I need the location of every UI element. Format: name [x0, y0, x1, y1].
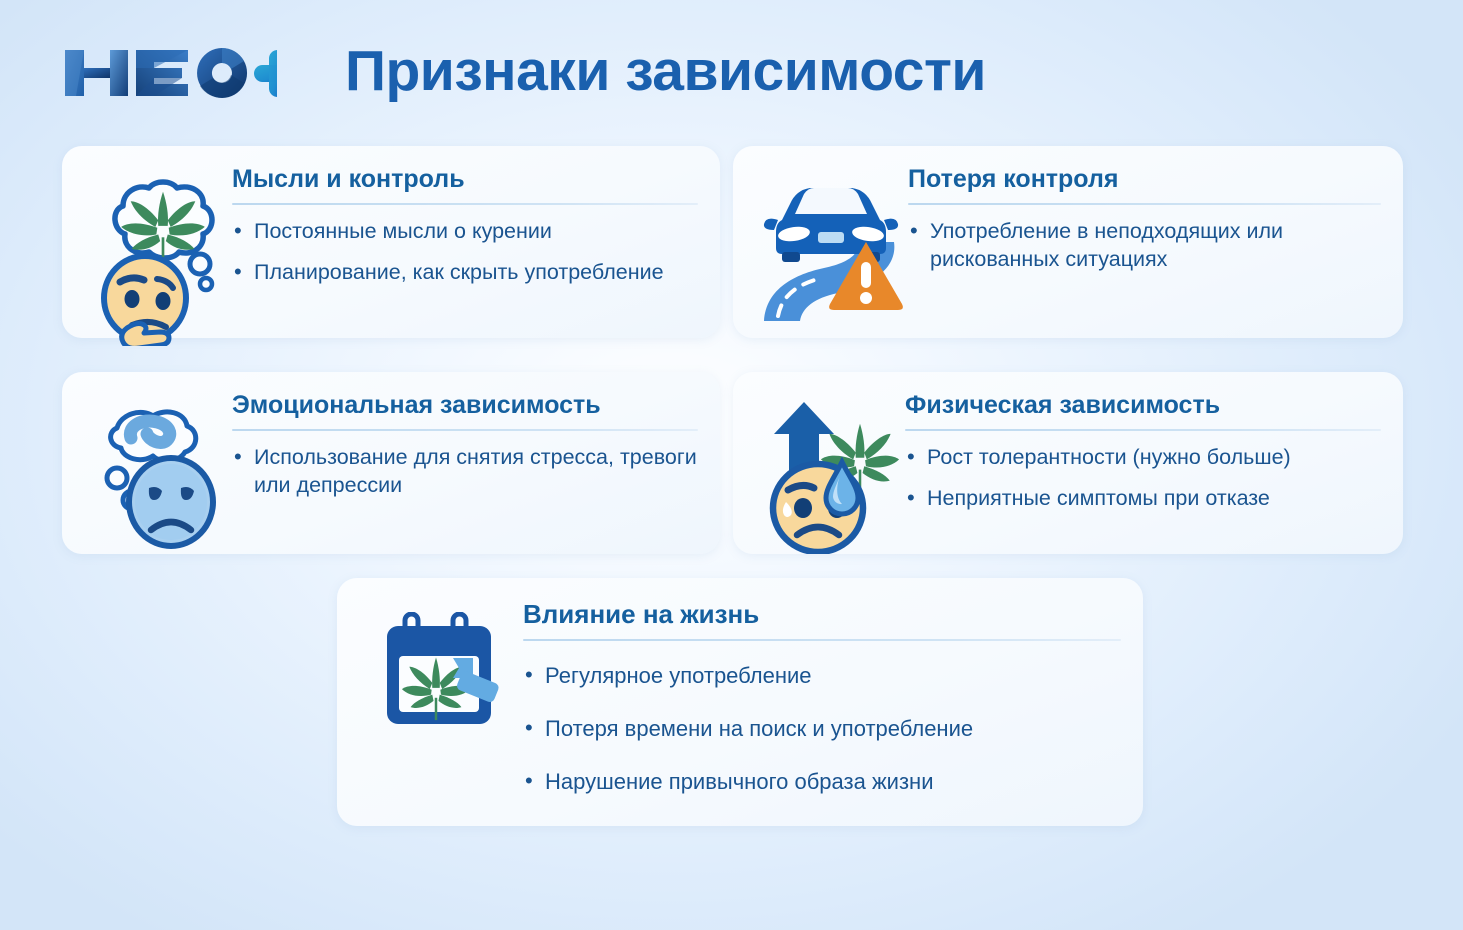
title-divider	[523, 639, 1121, 641]
card-thoughts-and-control: Мысли и контроль Постоянные мысли о куре…	[62, 146, 720, 338]
page-title: Признаки зависимости	[345, 38, 986, 104]
points-list: Использование для снятия стресса, тревог…	[232, 443, 698, 500]
points-list: Рост толерантности (нужно больше) Неприя…	[905, 443, 1381, 513]
list-item: Нарушение привычного образа жизни	[523, 767, 1121, 796]
thinking-face-with-cannabis-thought-bubble-icon	[82, 178, 232, 346]
card-title: Эмоциональная зависимость	[232, 392, 698, 420]
infographic-canvas: HEO Признаки зависимости	[0, 0, 1463, 930]
card-title: Физическая зависимость	[905, 392, 1381, 420]
title-divider	[905, 429, 1381, 431]
header: HEO Признаки зависимости	[0, 0, 1463, 140]
card-body: Влияние на жизнь Регулярное употребление…	[523, 600, 1121, 820]
card-body: Потеря контроля Употребление в неподходя…	[908, 166, 1381, 274]
card-title: Потеря контроля	[908, 166, 1381, 194]
calendar-with-cannabis-leaf-icon	[363, 612, 523, 730]
list-item: Рост толерантности (нужно больше)	[905, 443, 1381, 472]
card-emotional-dependence: Эмоциональная зависимость Использование …	[62, 372, 720, 554]
card-physical-dependence: Физическая зависимость Рост толерантност…	[733, 372, 1403, 554]
anxious-face-with-sweat-up-arrow-and-cannabis-leaf-icon	[753, 398, 905, 554]
points-list: Употребление в неподходящих или рискован…	[908, 217, 1381, 274]
title-divider	[232, 203, 698, 205]
list-item: Планирование, как скрыть употребление	[232, 258, 698, 287]
card-body: Мысли и контроль Постоянные мысли о куре…	[232, 166, 698, 287]
points-list: Регулярное употребление Потеря времени н…	[523, 661, 1121, 797]
title-divider	[232, 429, 698, 431]
list-item: Использование для снятия стресса, тревог…	[232, 443, 698, 500]
list-item: Потеря времени на поиск и употребление	[523, 714, 1121, 743]
card-title: Мысли и контроль	[232, 166, 698, 194]
list-item: Регулярное употребление	[523, 661, 1121, 690]
neo-plus-logo: HEO	[62, 42, 277, 104]
list-item: Постоянные мысли о курении	[232, 217, 698, 246]
card-impact-on-life: Влияние на жизнь Регулярное употребление…	[337, 578, 1143, 826]
list-item: Неприятные симптомы при отказе	[905, 484, 1381, 513]
card-body: Эмоциональная зависимость Использование …	[232, 392, 698, 500]
list-item: Употребление в неподходящих или рискован…	[908, 217, 1381, 274]
card-body: Физическая зависимость Рост толерантност…	[905, 392, 1381, 513]
points-list: Постоянные мысли о курении Планирование,…	[232, 217, 698, 287]
card-title: Влияние на жизнь	[523, 600, 1121, 629]
car-on-winding-road-with-warning-triangle-icon	[753, 176, 908, 326]
title-divider	[908, 203, 1381, 205]
logo-mark-icon	[62, 42, 277, 104]
sad-blue-face-with-thought-bubble-icon	[82, 406, 232, 554]
card-loss-of-control: Потеря контроля Употребление в неподходя…	[733, 146, 1403, 338]
